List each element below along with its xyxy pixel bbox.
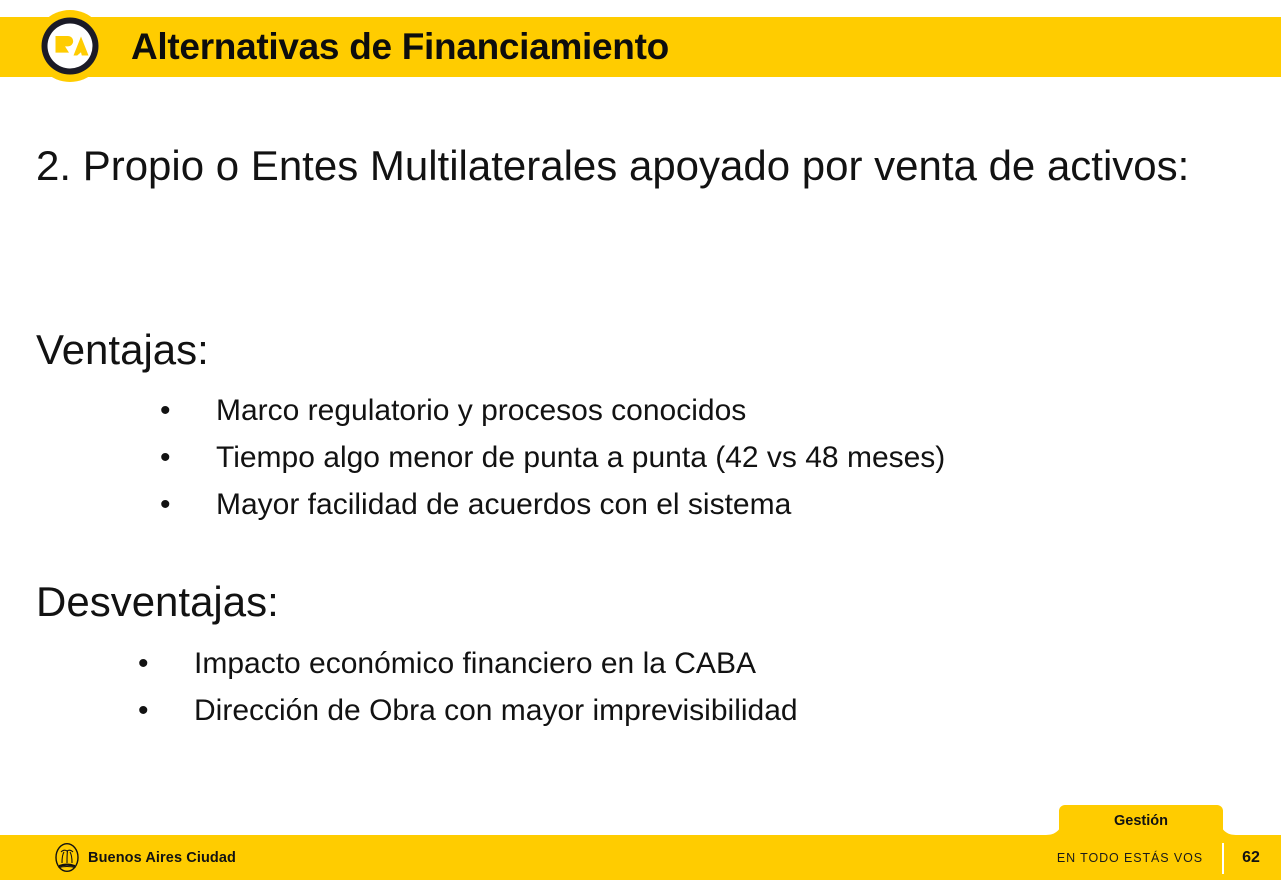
slide-content: 2. Propio o Entes Multilaterales apoyado…	[0, 77, 1281, 835]
header-bar: Alternativas de Financiamiento	[0, 17, 1281, 77]
footer-brand-label: Buenos Aires Ciudad	[88, 850, 236, 866]
list-item-label: Mayor facilidad de acuerdos con el siste…	[216, 488, 791, 521]
bullet-marker-icon: •	[138, 687, 158, 734]
list-item-label: Impacto económico financiero en la CABA	[194, 647, 756, 680]
list-item: • Dirección de Obra con mayor imprevisib…	[138, 687, 1168, 734]
page-number: 62	[1234, 835, 1268, 880]
bullet-marker-icon: •	[160, 481, 180, 528]
ba-logo-icon	[33, 9, 107, 83]
bullet-marker-icon: •	[160, 434, 180, 481]
bullet-list-desventajas: • Impacto económico financiero en la CAB…	[138, 640, 1168, 734]
bullet-list-ventajas: • Marco regulatorio y procesos conocidos…	[160, 387, 1170, 528]
bullet-marker-icon: •	[160, 387, 180, 434]
list-item-label: Tiempo algo menor de punta a punta (42 v…	[216, 441, 945, 474]
page-title: Alternativas de Financiamiento	[131, 26, 669, 68]
bullet-marker-icon: •	[138, 640, 158, 687]
section-heading-ventajas: Ventajas:	[36, 329, 209, 371]
list-item: • Tiempo algo menor de punta a punta (42…	[160, 434, 1170, 481]
footer-brand: Buenos Aires Ciudad	[55, 835, 236, 880]
footer-slogan: EN TODO ESTÁS VOS	[1057, 835, 1203, 880]
list-item-label: Marco regulatorio y procesos conocidos	[216, 394, 746, 427]
footer-divider	[1222, 843, 1224, 874]
list-item-label: Dirección de Obra con mayor imprevisibil…	[194, 694, 798, 727]
list-item: • Impacto económico financiero en la CAB…	[138, 640, 1168, 687]
section-heading-desventajas: Desventajas:	[36, 581, 279, 623]
slide-title: 2. Propio o Entes Multilaterales apoyado…	[36, 135, 1221, 197]
gestion-label: Gestión	[1041, 805, 1241, 837]
list-item: • Mayor facilidad de acuerdos con el sis…	[160, 481, 1170, 528]
list-item: • Marco regulatorio y procesos conocidos	[160, 387, 1170, 434]
buenos-aires-crest-icon	[55, 843, 79, 872]
